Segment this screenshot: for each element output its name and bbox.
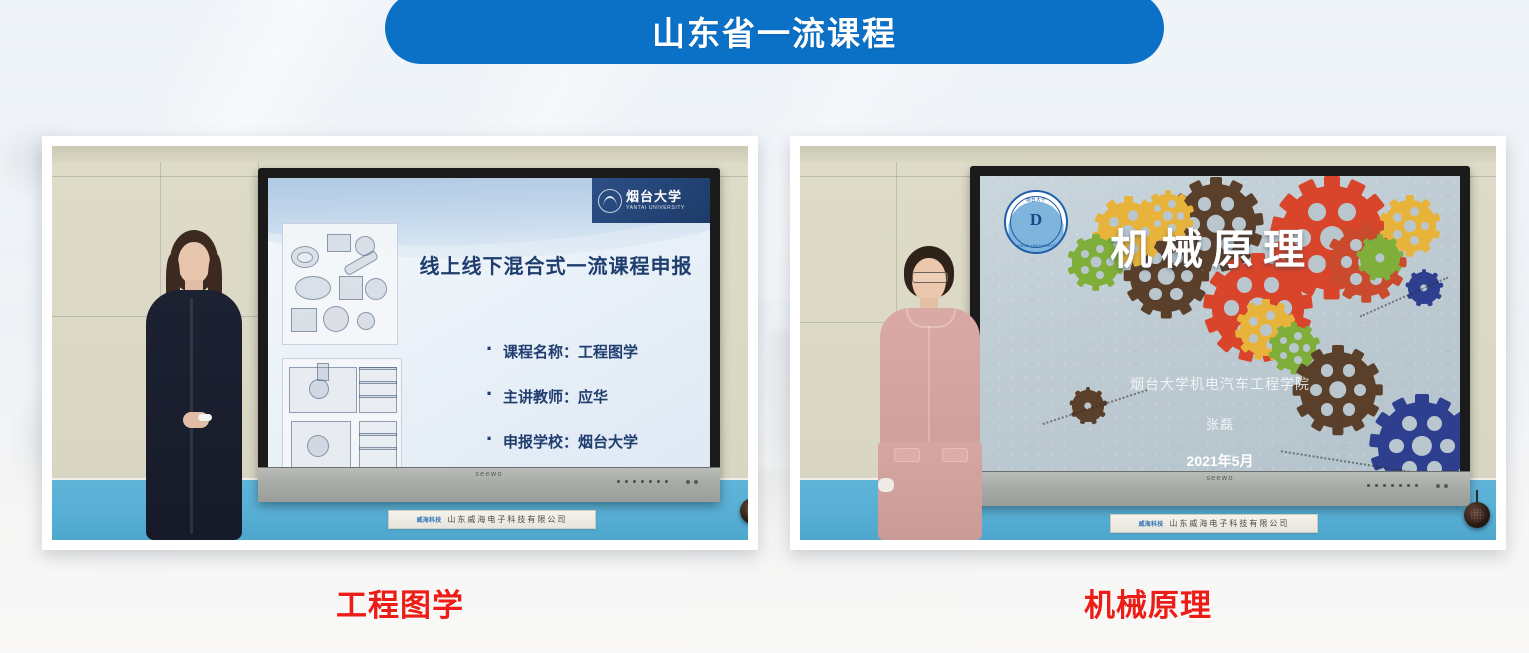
smartboard-right[interactable]: 烟台大学 D YANTAI UNIVERSITY 机械原理 烟台大学机电汽车工程… (970, 166, 1470, 506)
bezel-control-knobs[interactable] (686, 480, 698, 484)
presenter-right (872, 246, 988, 540)
smartboard-screen-left: 烟台大学 YANTAI UNIVERSITY (268, 178, 710, 468)
logo-text-en: YANTAI UNIVERSITY (1006, 243, 1066, 248)
university-name-en: YANTAI UNIVERSITY (626, 206, 685, 211)
slide-bullet-item: 申报学校：烟台大学 (486, 426, 638, 452)
title-banner: 山东省一流课程 (385, 0, 1164, 64)
bezel-button-row[interactable] (617, 480, 668, 483)
presenter-pocket (894, 448, 920, 462)
university-crest-icon (598, 189, 622, 213)
presenter-jacket (880, 308, 980, 448)
slide-bullet-item: 课程名称：工程图学 (486, 336, 638, 362)
slide-title-right: 机械原理 (1110, 216, 1314, 277)
slide-root: 山东省一流课程 (0, 0, 1529, 653)
presenter-left (140, 230, 252, 540)
cad-drawing-thumbnail-top (282, 223, 398, 345)
yantai-university-logo-left: 烟台大学 YANTAI UNIVERSITY (592, 178, 710, 223)
dealer-label-left: 威海科技 山东威海电子科技有限公司 (388, 510, 596, 529)
yantai-university-logo-right: 烟台大学 D YANTAI UNIVERSITY (1004, 190, 1068, 254)
presenter-placket (928, 326, 930, 444)
slide-bullet-list-left: 课程名称：工程图学 主讲教师：应华 申报学校：烟台大学 (446, 336, 638, 468)
slide-title-left: 线上线下混合式一流课程申报 (418, 250, 694, 279)
wall-top-band-right (800, 146, 1496, 162)
slide-author-right: 张磊 (980, 414, 1460, 433)
dealer-logo-text: 威海科技 (417, 515, 442, 524)
photo-right: 烟台大学 D YANTAI UNIVERSITY 机械原理 烟台大学机电汽车工程… (800, 146, 1496, 540)
presentation-slide-left: 烟台大学 YANTAI UNIVERSITY (268, 178, 710, 468)
bezel-control-knobs[interactable] (1436, 484, 1448, 488)
dealer-label-right: 威海科技 山东威海电子科技有限公司 (1110, 514, 1318, 533)
smartboard-bezel-left: seewo (258, 467, 720, 502)
dealer-logo-text: 威海科技 (1139, 519, 1164, 528)
wall-top-band-left (52, 146, 748, 162)
logo-letter: D (1030, 210, 1042, 230)
presentation-slide-right: 烟台大学 D YANTAI UNIVERSITY 机械原理 烟台大学机电汽车工程… (980, 176, 1460, 472)
photo-left: 烟台大学 YANTAI UNIVERSITY (52, 146, 748, 540)
caption-right: 机械原理 (790, 580, 1506, 625)
title-banner-text: 山东省一流课程 (652, 1, 897, 55)
slide-bullet-item: 主讲教师：应华 (486, 381, 638, 407)
bezel-button-row[interactable] (1367, 484, 1418, 487)
presenter-face (178, 242, 210, 284)
gear-icon (1360, 238, 1400, 278)
photo-card-left[interactable]: 烟台大学 YANTAI UNIVERSITY (42, 136, 758, 550)
logo-text-cn: 烟台大学 (1006, 197, 1066, 203)
seewo-brand-label: seewo (475, 470, 502, 478)
presenter-pocket (942, 448, 968, 462)
slide-date-right: 2021年5月 (980, 451, 1460, 471)
presenter-glasses (912, 272, 948, 283)
cad-drawing-thumbnail-bottom (282, 358, 402, 468)
wall-speaker-right (1464, 502, 1490, 528)
seewo-brand-label: seewo (1206, 474, 1233, 482)
university-name-cn: 烟台大学 (626, 190, 685, 203)
smartboard-screen-right: 烟台大学 D YANTAI UNIVERSITY 机械原理 烟台大学机电汽车工程… (980, 176, 1460, 472)
presenter-clicker (198, 414, 212, 421)
smartboard-bezel-right: seewo (970, 471, 1470, 506)
dealer-company-name: 山东威海电子科技有限公司 (1169, 518, 1289, 529)
caption-left: 工程图学 (42, 580, 758, 625)
photo-card-right[interactable]: 烟台大学 D YANTAI UNIVERSITY 机械原理 烟台大学机电汽车工程… (790, 136, 1506, 550)
presenter-held-object (878, 478, 894, 492)
dealer-company-name: 山东威海电子科技有限公司 (447, 514, 567, 525)
slide-organization-right: 烟台大学机电汽车工程学院 (980, 374, 1460, 394)
smartboard-left[interactable]: 烟台大学 YANTAI UNIVERSITY (258, 168, 720, 502)
